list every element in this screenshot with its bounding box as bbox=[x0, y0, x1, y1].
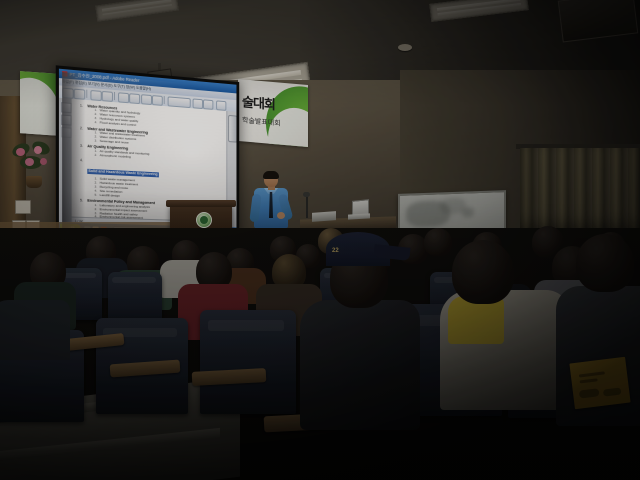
banner-right: 술대회 학술발표대회 bbox=[238, 79, 308, 147]
smoke-detector-icon bbox=[398, 44, 412, 51]
document-section: 4.Solid and Hazardous Waste Engineering1… bbox=[80, 158, 222, 202]
microphone-stand bbox=[306, 196, 308, 218]
attendee-jacket bbox=[300, 300, 420, 430]
light-switch-plate[interactable] bbox=[15, 200, 31, 214]
cap-number: 22 bbox=[332, 248, 339, 254]
laptop-keyboard bbox=[348, 213, 370, 219]
auditorium-seat[interactable] bbox=[200, 310, 296, 414]
auditorium-photo: 2 일시 술대회 학술발표대회 PT_김수진_2008.pdf - Adobe … bbox=[0, 0, 640, 480]
presenter-hair bbox=[263, 171, 279, 179]
attendee-head bbox=[452, 240, 514, 304]
window-curtain bbox=[520, 148, 640, 236]
section-heading: Solid and Hazardous Waste Engineering bbox=[87, 169, 158, 177]
presenter-hand bbox=[277, 212, 285, 219]
screen-shadow bbox=[62, 72, 85, 238]
vase bbox=[26, 176, 42, 188]
podium-top bbox=[166, 200, 236, 207]
conference-program-booklet[interactable] bbox=[569, 357, 630, 409]
attendee-head bbox=[424, 228, 452, 256]
attendee-head bbox=[576, 234, 634, 292]
wall-flower-arrangement bbox=[10, 140, 54, 182]
attendee-body bbox=[0, 300, 70, 360]
banner-right-subtext: 학술발표대회 bbox=[242, 115, 281, 128]
scrollbar-thumb[interactable] bbox=[228, 115, 236, 143]
banner-right-title: 술대회 bbox=[242, 91, 275, 113]
second-laptop bbox=[312, 211, 336, 222]
presentation-laptop bbox=[348, 200, 368, 220]
university-emblem-icon bbox=[196, 212, 212, 228]
microphone-icon bbox=[303, 192, 310, 197]
